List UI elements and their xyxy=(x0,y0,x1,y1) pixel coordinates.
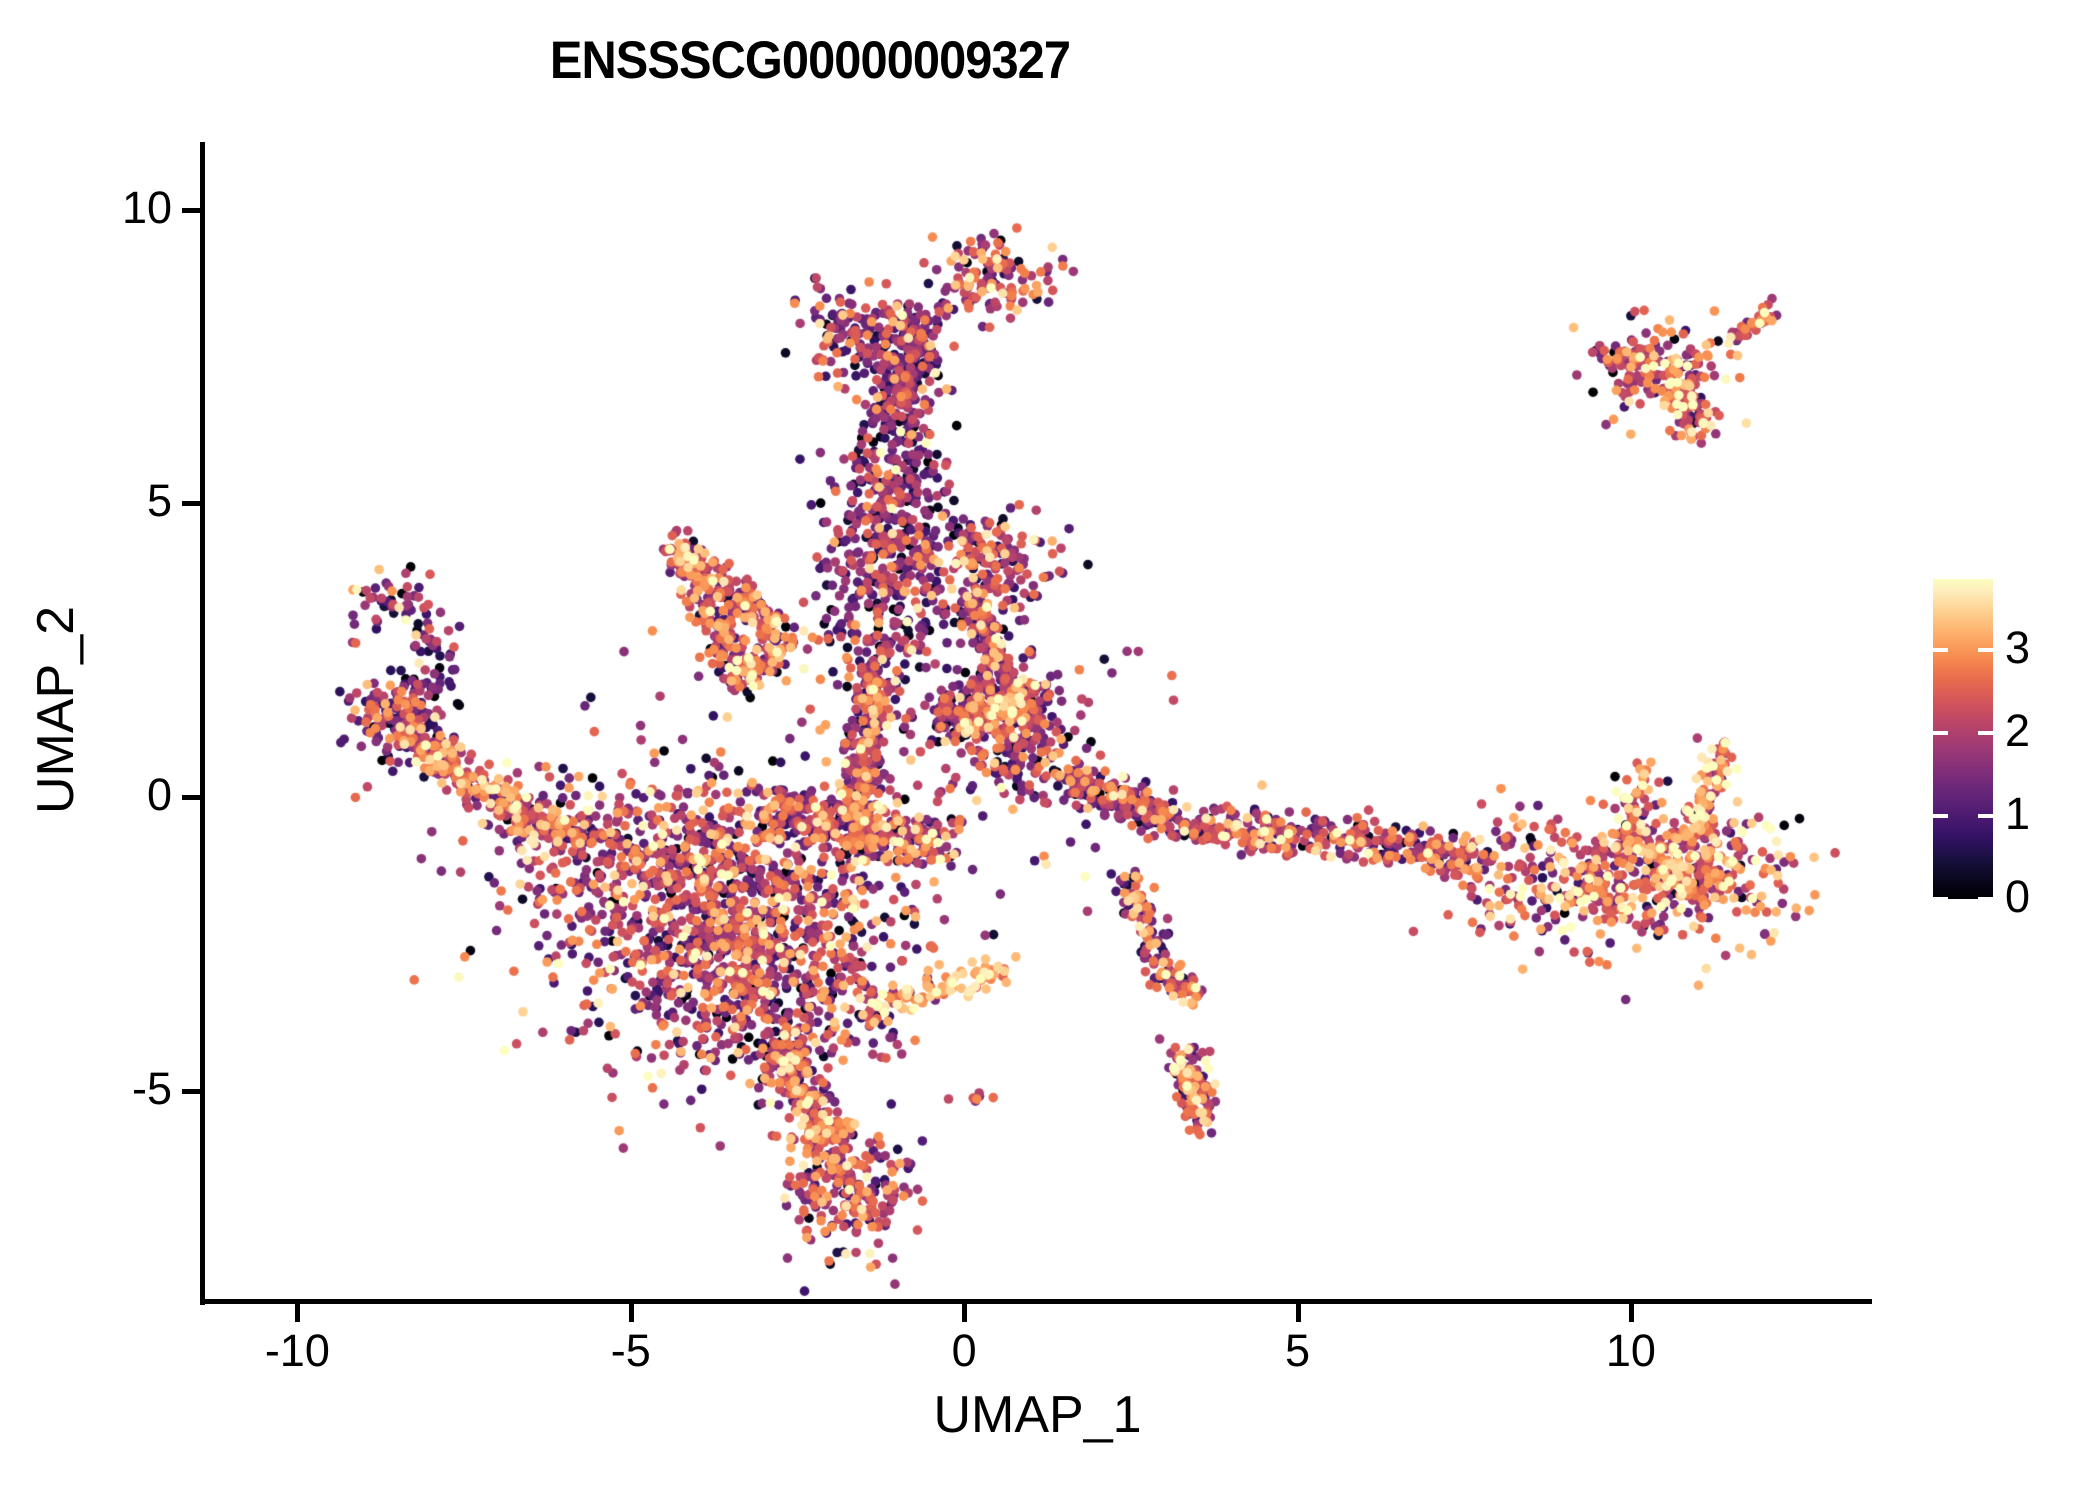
x-tick-label: 0 xyxy=(864,1325,1064,1377)
colorbar-tick-mark xyxy=(1978,897,1993,901)
figure-root: ENSSSCG00000009327 1050-5 -10-50510 UMAP… xyxy=(0,0,2100,1500)
scatter-canvas xyxy=(204,142,1871,1302)
x-tick-mark xyxy=(1629,1304,1634,1322)
colorbar-tick-mark xyxy=(1978,648,1993,652)
colorbar-tick-mark xyxy=(1933,731,1948,735)
colorbar-tick-mark xyxy=(1933,897,1948,901)
colorbar-tick-label: 3 xyxy=(2005,625,2095,670)
plot-panel xyxy=(204,142,1871,1302)
x-axis-line xyxy=(200,1299,1872,1304)
y-tick-label: 10 xyxy=(0,182,172,234)
colorbar-tick-label: 2 xyxy=(2005,708,2095,753)
x-tick-mark xyxy=(629,1304,634,1322)
y-axis-label: UMAP_2 xyxy=(26,360,86,1060)
x-tick-label: 5 xyxy=(1198,1325,1398,1377)
x-tick-mark xyxy=(295,1304,300,1322)
y-tick-mark xyxy=(182,501,200,506)
x-tick-mark xyxy=(1296,1304,1301,1322)
x-tick-label: 10 xyxy=(1531,1325,1731,1377)
x-axis-label: UMAP_1 xyxy=(204,1385,1871,1445)
colorbar-tick-mark xyxy=(1933,648,1948,652)
colorbar-gradient xyxy=(1933,579,1993,899)
colorbar-tick-mark xyxy=(1978,814,1993,818)
colorbar-tick-mark xyxy=(1933,814,1948,818)
x-tick-label: -5 xyxy=(531,1325,731,1377)
y-tick-mark xyxy=(182,208,200,213)
colorbar-tick-label: 1 xyxy=(2005,791,2095,836)
x-tick-mark xyxy=(962,1304,967,1322)
y-axis-line xyxy=(200,142,205,1305)
y-tick-label: -5 xyxy=(0,1063,172,1115)
y-tick-mark xyxy=(182,1089,200,1094)
y-tick-mark xyxy=(182,795,200,800)
x-tick-label: -10 xyxy=(197,1325,397,1377)
colorbar-tick-mark xyxy=(1978,731,1993,735)
page-title: ENSSSCG00000009327 xyxy=(65,30,1555,91)
colorbar-tick-label: 0 xyxy=(2005,874,2095,919)
